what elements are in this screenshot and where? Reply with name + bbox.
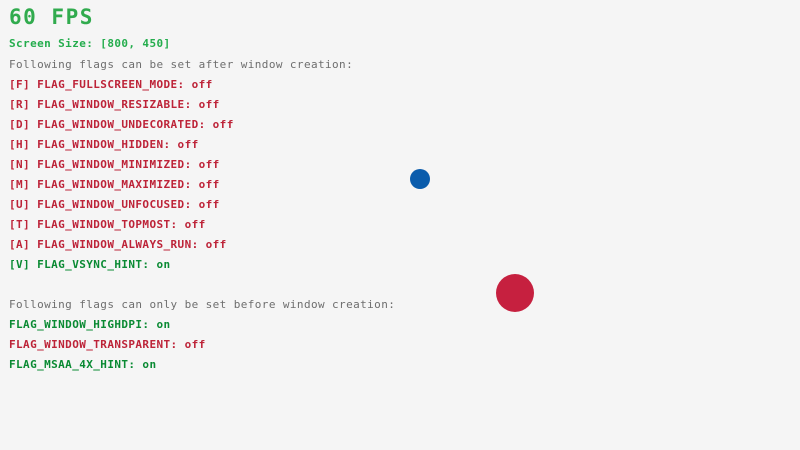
blue-ball (410, 169, 430, 189)
flag-row-window-resizable[interactable]: [R] FLAG_WINDOW_RESIZABLE: off (9, 99, 220, 110)
flag-row-window-transparent: FLAG_WINDOW_TRANSPARENT: off (9, 339, 206, 350)
flag-row-window-hidden[interactable]: [H] FLAG_WINDOW_HIDDEN: off (9, 139, 199, 150)
creation-flags-note: Following flags can only be set before w… (9, 299, 395, 310)
red-ball (496, 274, 534, 312)
raylib-window[interactable]: 60 FPS Screen Size: [800, 450] Following… (0, 0, 800, 450)
flag-row-msaa-4x-hint: FLAG_MSAA_4X_HINT: on (9, 359, 156, 370)
flag-row-fullscreen-mode[interactable]: [F] FLAG_FULLSCREEN_MODE: off (9, 79, 213, 90)
flag-row-window-minimized[interactable]: [N] FLAG_WINDOW_MINIMIZED: off (9, 159, 220, 170)
screen-size-label: Screen Size: [800, 450] (9, 38, 171, 49)
flag-row-window-unfocused[interactable]: [U] FLAG_WINDOW_UNFOCUSED: off (9, 199, 220, 210)
flag-row-window-undecorated[interactable]: [D] FLAG_WINDOW_UNDECORATED: off (9, 119, 234, 130)
runtime-flags-note: Following flags can be set after window … (9, 59, 353, 70)
flag-row-window-always-run[interactable]: [A] FLAG_WINDOW_ALWAYS_RUN: off (9, 239, 227, 250)
flag-row-window-maximized[interactable]: [M] FLAG_WINDOW_MAXIMIZED: off (9, 179, 220, 190)
flag-row-window-highdpi: FLAG_WINDOW_HIGHDPI: on (9, 319, 171, 330)
flag-row-vsync-hint[interactable]: [V] FLAG_VSYNC_HINT: on (9, 259, 171, 270)
flag-row-window-topmost[interactable]: [T] FLAG_WINDOW_TOPMOST: off (9, 219, 206, 230)
fps-counter: 60 FPS (9, 7, 94, 28)
